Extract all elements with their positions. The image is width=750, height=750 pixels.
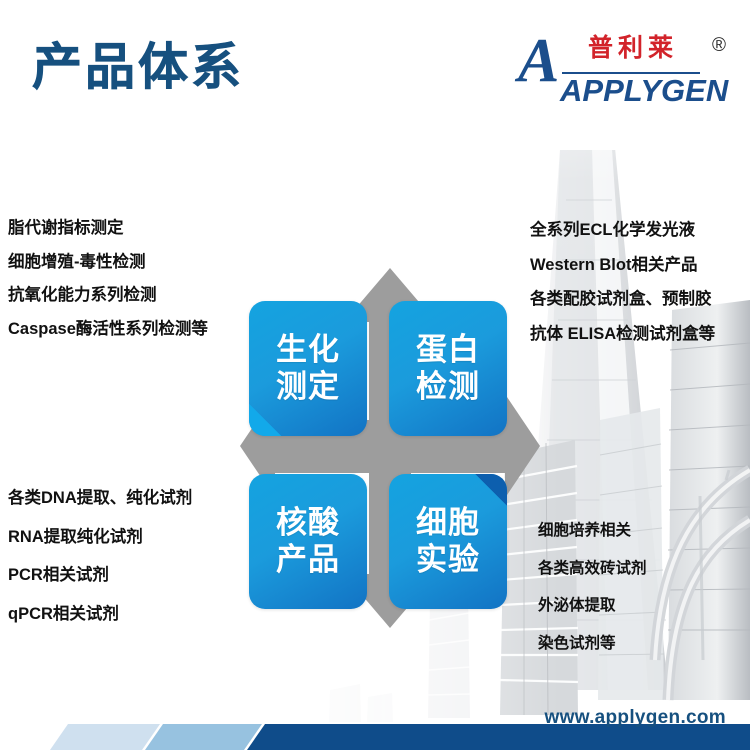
tile-label: 蛋白 检测 xyxy=(389,301,507,436)
tile-cell-experiment[interactable]: 细胞 实验 xyxy=(389,474,507,609)
applygen-logo: A 普利莱 ® APPLYGEN xyxy=(516,32,728,112)
website-url[interactable]: www.applygen.com xyxy=(545,708,726,727)
list-item: 细胞增殖-毒性检测 xyxy=(8,254,208,271)
tile-label-line1: 核酸 xyxy=(276,505,340,542)
list-item: 抗体 ELISA检测试剂盒等 xyxy=(530,326,715,343)
tile-label-line1: 蛋白 xyxy=(416,332,480,369)
list-item: qPCR相关试剂 xyxy=(8,606,192,623)
list-biochemical-assay-items: 脂代谢指标测定 细胞增殖-毒性检测 抗氧化能力系列检测 Caspase酶活性系列… xyxy=(8,220,208,354)
list-item: 各类高效砖试剂 xyxy=(538,561,647,577)
list-item: 各类DNA提取、纯化试剂 xyxy=(8,490,192,507)
tile-label: 细胞 实验 xyxy=(389,474,507,609)
list-item: 细胞培养相关 xyxy=(538,523,647,539)
tile-biochemical-assay[interactable]: 生化 测定 xyxy=(249,301,367,436)
tile-label: 核酸 产品 xyxy=(249,474,367,609)
tile-label-line2: 实验 xyxy=(416,542,480,579)
list-cell-experiment-items: 细胞培养相关 各类高效砖试剂 外泌体提取 染色试剂等 xyxy=(538,523,647,673)
tile-protein-detection[interactable]: 蛋白 检测 xyxy=(389,301,507,436)
tile-label: 生化 测定 xyxy=(249,301,367,436)
logo-chinese-name: 普利莱 xyxy=(588,36,678,61)
tile-nucleic-acid-products[interactable]: 核酸 产品 xyxy=(249,474,367,609)
tile-label-line1: 生化 xyxy=(276,332,340,369)
list-item: 染色试剂等 xyxy=(538,636,647,652)
logo-mark-letter: A xyxy=(518,30,559,92)
tile-label-line1: 细胞 xyxy=(416,505,480,542)
tile-label-line2: 检测 xyxy=(416,369,480,406)
list-item: 外泌体提取 xyxy=(538,598,647,614)
product-system-poster: 产品体系 A 普利莱 ® APPLYGEN 生化 测定 蛋白 检测 核酸 产品 xyxy=(0,0,750,750)
tile-label-line2: 测定 xyxy=(276,369,340,406)
list-protein-detection-items: 全系列ECL化学发光液 Western Blot相关产品 各类配胶试剂盒、预制胶… xyxy=(530,222,715,360)
list-item: 各类配胶试剂盒、预制胶 xyxy=(530,291,715,308)
list-item: 抗氧化能力系列检测 xyxy=(8,287,208,304)
list-item: 脂代谢指标测定 xyxy=(8,220,208,237)
list-item: Caspase酶活性系列检测等 xyxy=(8,321,208,338)
page-title: 产品体系 xyxy=(32,42,244,92)
list-item: RNA提取纯化试剂 xyxy=(8,529,192,546)
registered-trademark-icon: ® xyxy=(712,36,726,55)
tile-label-line2: 产品 xyxy=(276,542,340,579)
list-item: 全系列ECL化学发光液 xyxy=(530,222,715,239)
logo-english-name: APPLYGEN xyxy=(560,72,728,111)
list-item: PCR相关试剂 xyxy=(8,567,192,584)
list-item: Western Blot相关产品 xyxy=(530,257,715,274)
poster-header: 产品体系 A 普利莱 ® APPLYGEN xyxy=(0,0,750,150)
list-nucleic-acid-items: 各类DNA提取、纯化试剂 RNA提取纯化试剂 PCR相关试剂 qPCR相关试剂 xyxy=(8,490,192,644)
